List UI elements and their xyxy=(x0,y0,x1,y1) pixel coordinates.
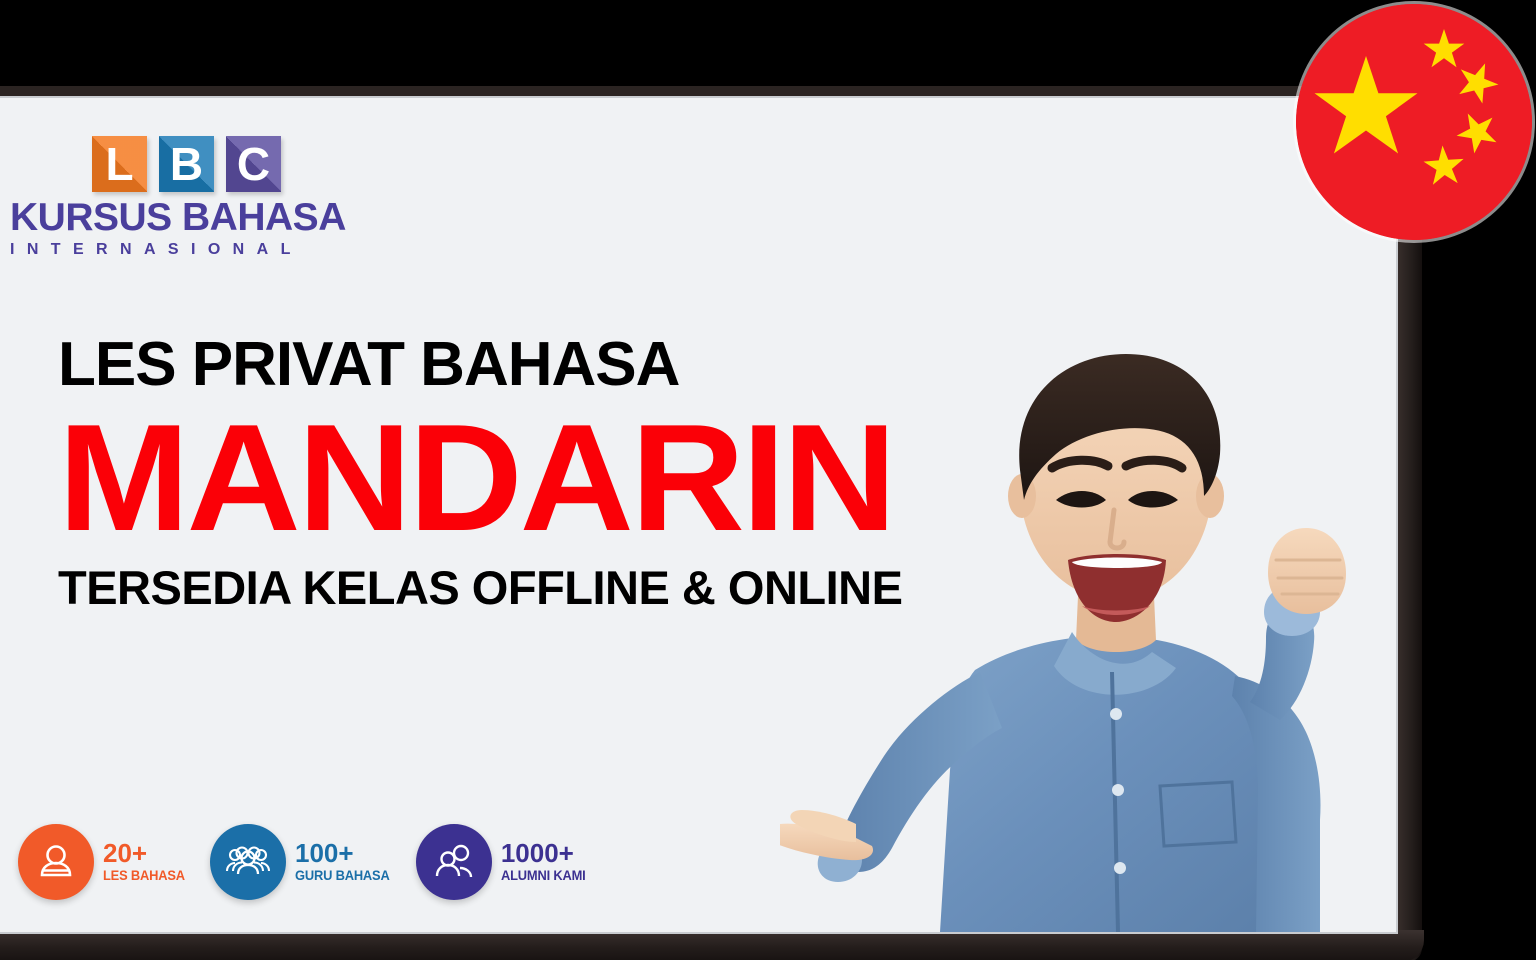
stat-number: 20+ xyxy=(103,841,192,866)
stat-circle-alumni-kami xyxy=(416,824,492,900)
logo-tile-l-letter: L xyxy=(105,141,133,187)
lbc-logo: L B C KURSUS BAHASA INTERNASIONAL xyxy=(10,136,390,259)
screen-content-area: L B C KURSUS BAHASA INTERNASIONAL LES PR… xyxy=(0,98,1396,932)
stat-item: 20+ LES BAHASA xyxy=(18,824,192,900)
stat-label: ALUMNI KAMI xyxy=(501,868,586,883)
two-people-icon xyxy=(432,841,476,883)
logo-tile-b: B xyxy=(159,136,214,192)
group-people-icon xyxy=(225,841,271,883)
stat-circle-les-bahasa xyxy=(18,824,94,900)
logo-tile-l: L xyxy=(92,136,147,192)
logo-tile-c: C xyxy=(226,136,281,192)
logo-tile-c-letter: C xyxy=(237,141,270,187)
stat-label: LES BAHASA xyxy=(103,868,185,883)
stats-row: 20+ LES BAHASA xyxy=(18,824,611,900)
stat-number: 100+ xyxy=(295,841,398,866)
stat-text: 20+ LES BAHASA xyxy=(103,841,192,883)
stat-number: 1000+ xyxy=(501,841,593,866)
stat-label: GURU BAHASA xyxy=(295,868,390,883)
logo-tiles: L B C xyxy=(92,136,390,192)
stat-circle-guru-bahasa xyxy=(210,824,286,900)
monitor-bezel-bottom-edge xyxy=(0,930,1424,960)
stat-text: 100+ GURU BAHASA xyxy=(295,841,398,883)
china-flag-icon xyxy=(1296,4,1532,240)
logo-brand-name: KURSUS BAHASA xyxy=(10,198,390,239)
stat-text: 1000+ ALUMNI KAMI xyxy=(501,841,593,883)
stat-item: 100+ GURU BAHASA xyxy=(210,824,398,900)
stat-item: 1000+ ALUMNI KAMI xyxy=(416,824,593,900)
single-person-icon xyxy=(35,841,77,883)
smiling-man-denim-shirt-photo xyxy=(780,320,1396,932)
logo-brand-subtitle: INTERNASIONAL xyxy=(10,240,390,259)
banner-screenshot: L B C KURSUS BAHASA INTERNASIONAL LES PR… xyxy=(0,0,1536,960)
logo-tile-b-letter: B xyxy=(170,141,203,187)
